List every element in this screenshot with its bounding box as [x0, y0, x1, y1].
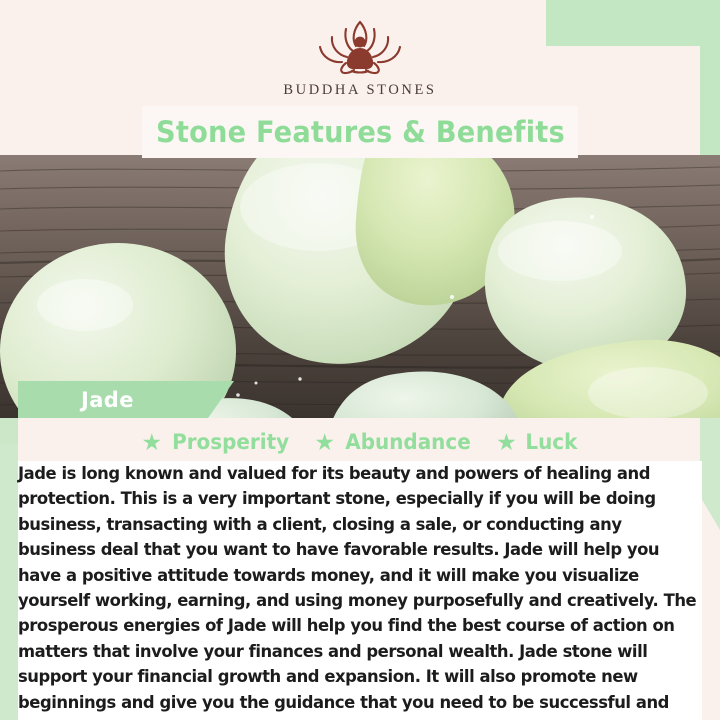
stone-description: Jade is long known and valued for its be…	[18, 461, 702, 720]
benefit-luck: ★ Luck	[496, 430, 578, 454]
star-icon: ★	[314, 431, 335, 454]
benefit-label: Luck	[525, 430, 577, 454]
star-icon: ★	[142, 431, 163, 454]
benefit-label: Prosperity	[172, 430, 289, 454]
stone-name: Jade	[81, 388, 134, 412]
title-band: Stone Features & Benefits	[142, 106, 578, 158]
brand-logo: BUDDHA STONES	[0, 14, 720, 99]
benefit-label: Abundance	[345, 430, 470, 454]
brand-name: BUDDHA STONES	[283, 82, 436, 99]
decor-bottom-left-edge	[0, 444, 18, 684]
stone-photo-illustration	[0, 155, 720, 418]
benefit-abundance: ★ Abundance	[314, 430, 474, 454]
infographic-page: BUDDHA STONES Stone Features & Benefits	[0, 0, 720, 720]
stone-name-banner: Jade	[18, 381, 234, 418]
benefit-prosperity: ★ Prosperity	[142, 430, 293, 454]
stone-photo	[0, 155, 720, 418]
benefits-row: ★ Prosperity ★ Abundance ★ Luck	[0, 430, 720, 454]
lotus-meditation-icon	[298, 14, 422, 78]
decor-right-lower-strip	[700, 410, 720, 530]
star-icon: ★	[496, 431, 517, 454]
page-title: Stone Features & Benefits	[156, 115, 565, 149]
